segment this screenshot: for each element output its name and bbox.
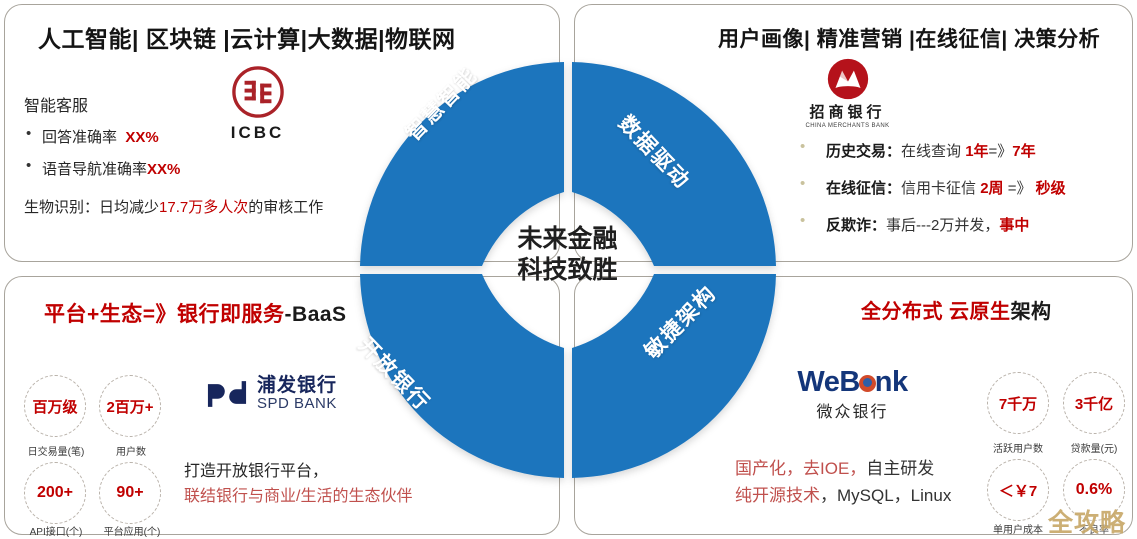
top-left-footer: 生物识别：日均减少17.7万多人次的审核工作 [24, 196, 323, 217]
icbc-mark-icon [230, 64, 286, 120]
bullet-value: XX% [125, 129, 158, 146]
row-highlight-2: 秒级 [1036, 180, 1066, 197]
stat-bubble: 7千万 [987, 372, 1049, 434]
heading-red-part: 平台+生态=》银行即服务 [44, 303, 285, 326]
top-left-body: 智能客服 回答准确率 XX% 语音导航准确率XX% [24, 92, 374, 190]
note-red-2: 纯开源技术 [735, 486, 820, 505]
icbc-wordmark: ICBC [210, 123, 305, 143]
row-arrow: =》 [989, 143, 1013, 160]
spd-wordmark-cn: 浦发银行 [257, 376, 337, 396]
note-dark-2: ，MySQL，Linux [820, 486, 951, 505]
top-left-lead: 智能客服 [24, 92, 374, 116]
bottom-right-note: 国产化，去IOE，自主研发 纯开源技术，MySQL，Linux [735, 455, 951, 509]
stat-label: 日交易量(笔) [16, 443, 96, 458]
spd-wordmark: 浦发银行 SPD BANK [257, 376, 337, 412]
stat-label: API接口(个) [14, 523, 98, 538]
note-dark-1: 自主研发 [866, 459, 934, 478]
icbc-logo: ICBC [210, 64, 305, 143]
center-title-line-2: 科技致胜 [470, 255, 665, 286]
top-left-bullet-list: 回答准确率 XX% 语音导航准确率XX% [24, 126, 374, 179]
stat-bubble: 2百万+ [99, 375, 161, 437]
row-label: 在线征信： [826, 180, 901, 197]
row-highlight-2: 事中 [999, 217, 1029, 234]
spd-wordmark-en: SPD BANK [257, 396, 337, 412]
stat-bubble: 百万级 [24, 375, 86, 437]
list-item: 历史交易：在线查询 1年=》7年 [800, 140, 1120, 161]
row-highlight-2: 7年 [1012, 143, 1035, 160]
note-line-1: 国产化，去IOE，自主研发 [735, 455, 951, 482]
stat-label: 平台应用(个) [90, 523, 174, 538]
row-label: 历史交易： [826, 143, 901, 160]
note-line-1: 打造开放银行平台， [184, 460, 412, 485]
footer-suffix: 的审核工作 [248, 199, 323, 216]
bottom-left-note: 打造开放银行平台， 联结银行与商业/生活的生态伙伴 [184, 460, 412, 510]
heading-red-part: 全分布式 云原生 [861, 301, 1011, 323]
list-item: 语音导航准确率XX% [24, 158, 374, 179]
stat-bubble: 200+ [24, 462, 86, 524]
list-item: 在线征信：信用卡征信 2周 =》 秒级 [800, 177, 1120, 198]
heading-top-left: 人工智能| 区块链 |云计算|大数据|物联网 [38, 20, 456, 54]
list-item: 反欺诈：事后---2万并发，事中 [800, 214, 1120, 235]
heading-dark-part: -BaaS [285, 303, 347, 326]
bullet-text: 语音导航准确率 [42, 161, 147, 178]
heading-bottom-right: 全分布式 云原生架构 [861, 295, 1052, 324]
heading-dark-part: 架构 [1011, 301, 1052, 323]
cmb-wordmark-en: CHINA MERCHANTS BANK [790, 123, 905, 129]
webank-logo: WeBnk 微众银行 [765, 368, 940, 422]
row-highlight-1: 1年 [965, 143, 988, 160]
webank-word-c: nk [875, 366, 908, 398]
heading-bottom-left: 平台+生态=》银行即服务-BaaS [44, 298, 347, 328]
note-line-2: 纯开源技术，MySQL，Linux [735, 482, 951, 509]
stat-bubble: 3千亿 [1063, 372, 1125, 434]
infographic-canvas: 人工智能| 区块链 |云计算|大数据|物联网 智能客服 回答准确率 XX% 语音… [0, 0, 1137, 539]
cmb-mark-icon [827, 58, 869, 100]
spd-bank-logo: 浦发银行 SPD BANK [205, 376, 365, 412]
row-mid: 事后---2万并发， [886, 217, 999, 234]
stat-label: 贷款量(元) [1053, 440, 1135, 455]
list-item: 回答准确率 XX% [24, 126, 374, 147]
webank-word-b: B [839, 366, 859, 398]
row-mid: 在线查询 [901, 143, 965, 160]
footer-prefix: 生物识别：日均减少 [24, 199, 159, 216]
stat-label: 活跃用户数 [974, 440, 1062, 455]
watermark: 全攻略 [1048, 503, 1126, 539]
row-label: 反欺诈： [826, 217, 886, 234]
note-line-2: 联结银行与商业/生活的生态伙伴 [184, 485, 412, 510]
stat-label: 用户数 [95, 443, 167, 458]
row-highlight-1: 2周 [980, 180, 1003, 197]
stat-bubble: ＜￥7 [987, 459, 1049, 521]
note-red-1: 国产化，去IOE， [735, 459, 866, 478]
cmb-wordmark-cn: 招商银行 [790, 101, 905, 122]
webank-wordmark: WeBnk [797, 368, 907, 397]
webank-wordmark-cn: 微众银行 [765, 398, 940, 422]
bullet-value: XX% [147, 161, 180, 178]
stat-bubble: 90+ [99, 462, 161, 524]
row-mid: 信用卡征信 [901, 180, 980, 197]
row-arrow: =》 [1004, 180, 1036, 197]
spd-mark-icon [205, 377, 249, 411]
center-title: 未来金融 科技致胜 [470, 224, 665, 285]
center-title-line-1: 未来金融 [470, 224, 665, 255]
heading-top-right: 用户画像| 精准营销 |在线征信| 决策分析 [718, 23, 1100, 53]
footer-highlight: 17.7万多人次 [159, 199, 248, 216]
bullet-text: 回答准确率 [42, 129, 117, 146]
cmb-logo: 招商银行 CHINA MERCHANTS BANK [790, 58, 905, 129]
webank-word-a: We [797, 366, 839, 398]
webank-dot-icon [859, 375, 876, 392]
top-right-row-list: 历史交易：在线查询 1年=》7年 在线征信：信用卡征信 2周 =》 秒级 反欺诈… [800, 140, 1120, 251]
